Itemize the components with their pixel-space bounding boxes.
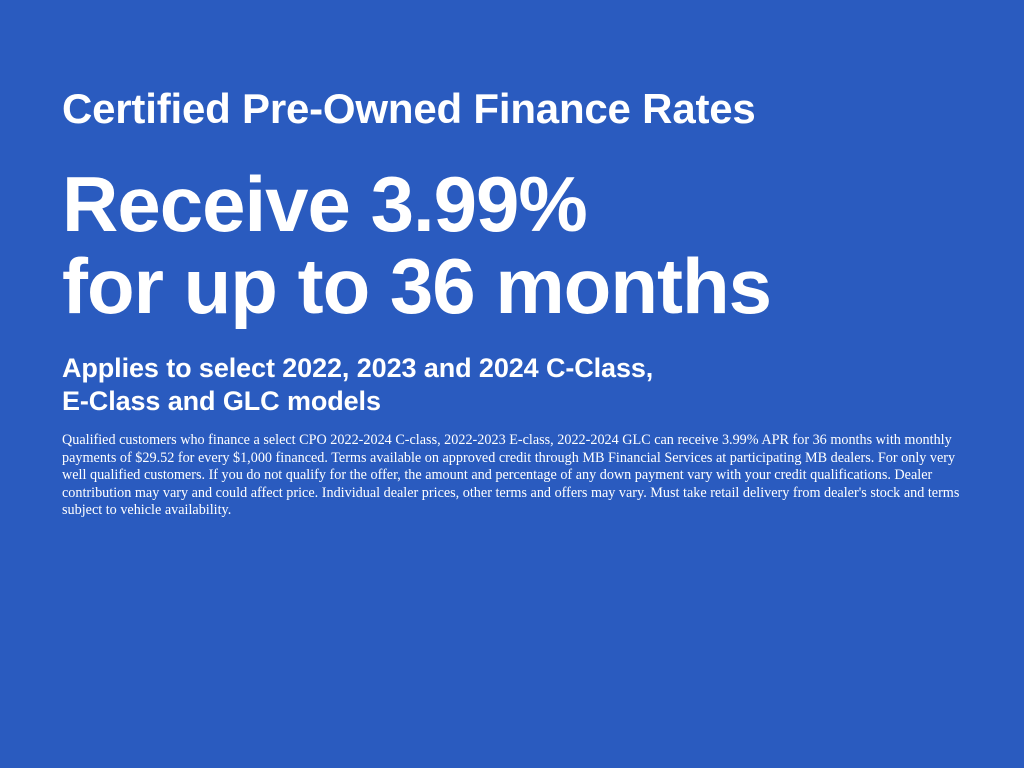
eligible-models-line-2: E-Class and GLC models	[62, 385, 962, 418]
promotional-slide: Certified Pre-Owned Finance Rates Receiv…	[0, 0, 1024, 768]
hero-offer-term-line: for up to 36 months	[62, 245, 962, 327]
eligible-models-subheading: Applies to select 2022, 2023 and 2024 C-…	[62, 352, 962, 418]
page-title: Certified Pre-Owned Finance Rates	[62, 84, 962, 134]
eligible-models-line-1: Applies to select 2022, 2023 and 2024 C-…	[62, 352, 962, 385]
hero-offer-rate-line: Receive 3.99%	[62, 163, 962, 245]
hero-offer: Receive 3.99% for up to 36 months	[62, 163, 962, 327]
legal-disclaimer: Qualified customers who finance a select…	[62, 432, 977, 520]
